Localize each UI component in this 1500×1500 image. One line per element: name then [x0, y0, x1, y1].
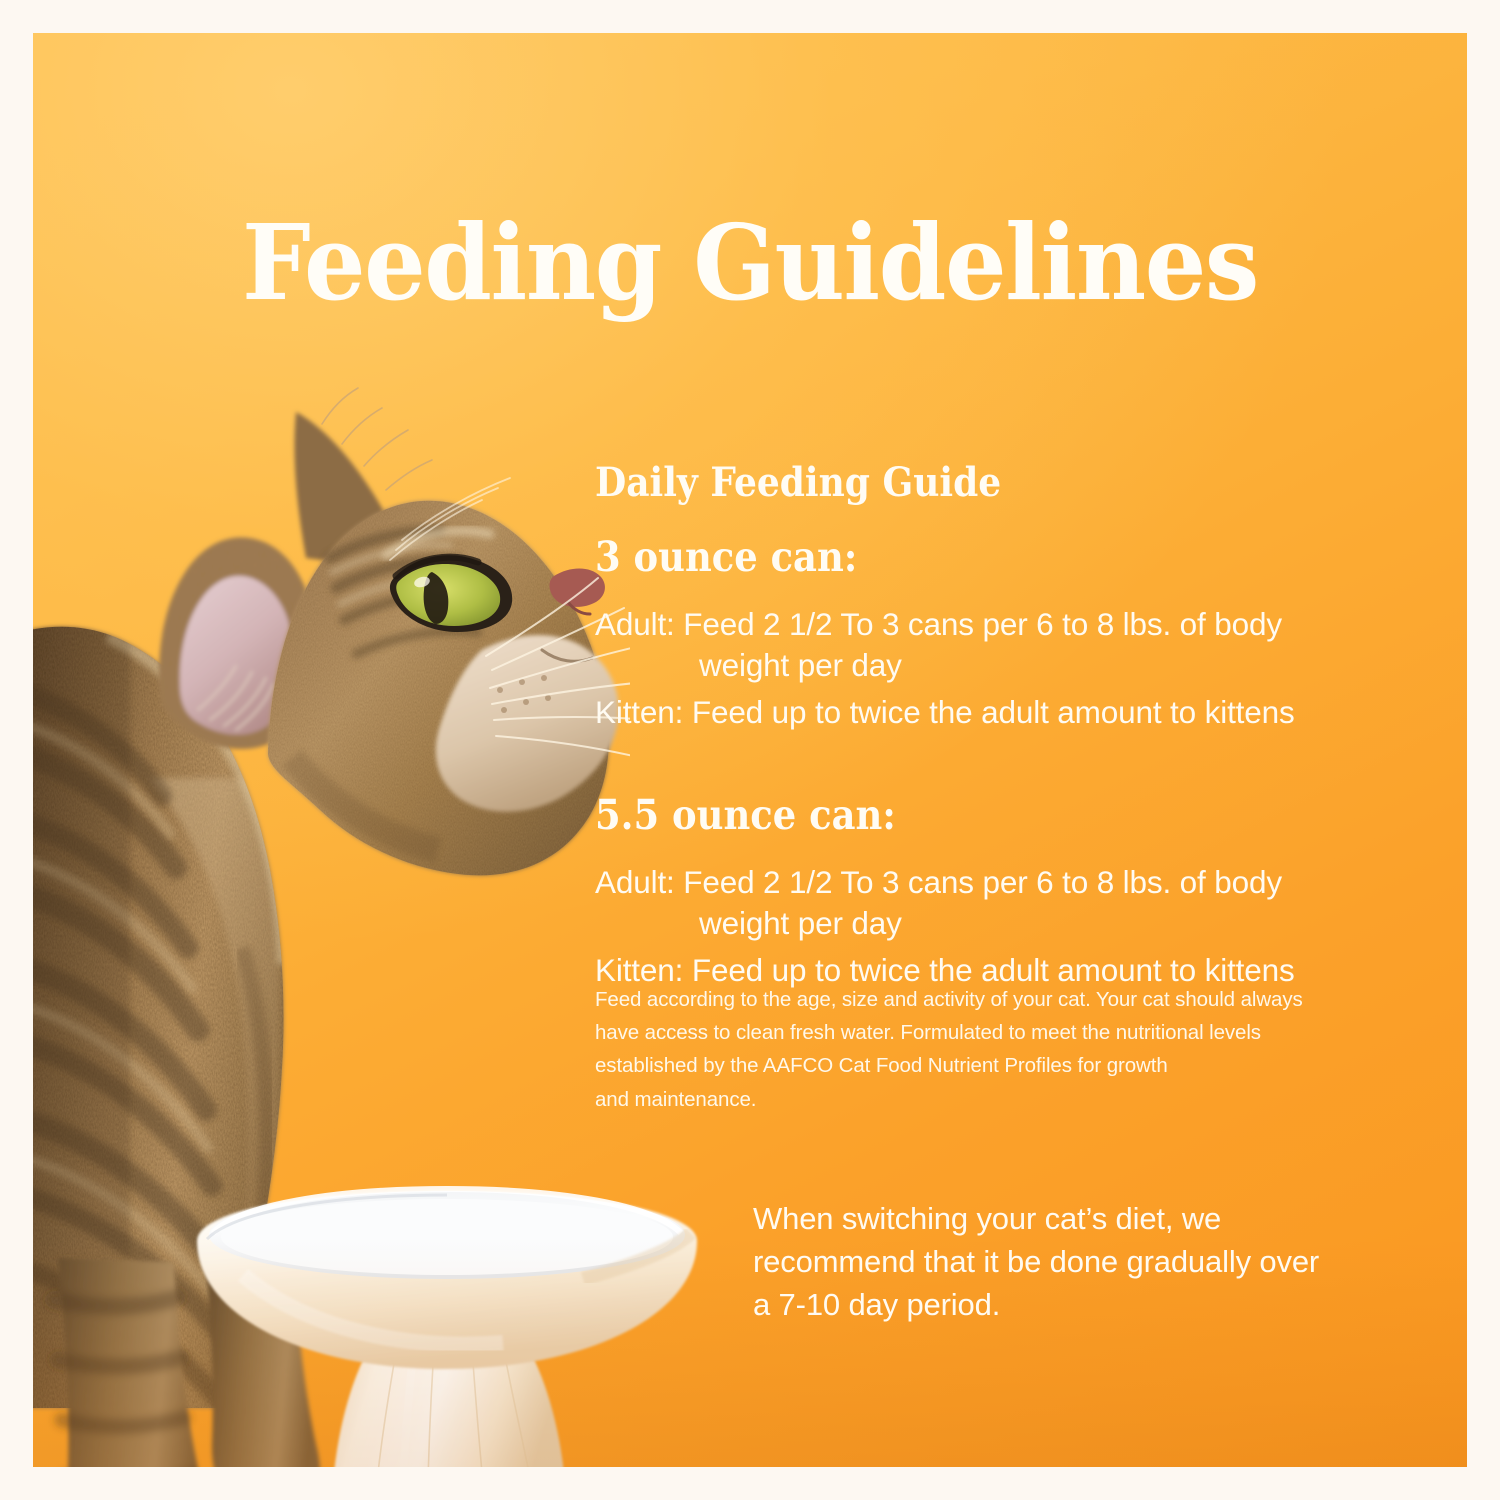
switch-note-line-3: a 7-10 day period. [753, 1284, 1433, 1327]
page-title: Feeding Guidelines [83, 208, 1417, 317]
fineprint-line-4: and maintenance. [595, 1083, 1435, 1116]
cat-bowl-illustration [183, 1183, 713, 1467]
fineprint-line-3: established by the AAFCO Cat Food Nutrie… [595, 1049, 1435, 1082]
fineprint-line-2: have access to clean fresh water. Formul… [595, 1016, 1435, 1049]
orange-panel: Feeding Guidelines Daily Feeding Guide 3… [33, 33, 1467, 1467]
switch-note-line-1: When switching your cat’s diet, we [753, 1198, 1433, 1241]
feeding-guidelines-page: Feeding Guidelines Daily Feeding Guide 3… [0, 0, 1500, 1500]
can-size-heading-3oz: 3 ounce can: [595, 537, 1351, 578]
daily-feeding-guide-heading: Daily Feeding Guide [595, 463, 1351, 503]
section-spacer [595, 733, 1435, 795]
fineprint-line-1: Feed according to the age, size and acti… [595, 983, 1435, 1016]
kitten-feeding-line-3oz: Kitten: Feed up to twice the adult amoun… [595, 692, 1435, 733]
can-size-heading-55oz: 5.5 ounce can: [595, 795, 1351, 836]
fineprint-block: Feed according to the age, size and acti… [595, 983, 1435, 1116]
adult-feeding-line-3oz-1: Adult: Feed 2 1/2 To 3 cans per 6 to 8 l… [595, 604, 1435, 645]
adult-feeding-line-55oz-1: Adult: Feed 2 1/2 To 3 cans per 6 to 8 l… [595, 862, 1435, 903]
diet-switch-note: When switching your cat’s diet, we recom… [753, 1198, 1433, 1326]
daily-feeding-guide-block: Daily Feeding Guide 3 ounce can: Adult: … [595, 463, 1435, 991]
adult-feeding-line-55oz-2: weight per day [595, 903, 1435, 944]
switch-note-line-2: recommend that it be done gradually over [753, 1241, 1433, 1284]
adult-feeding-line-3oz-2: weight per day [595, 645, 1435, 686]
